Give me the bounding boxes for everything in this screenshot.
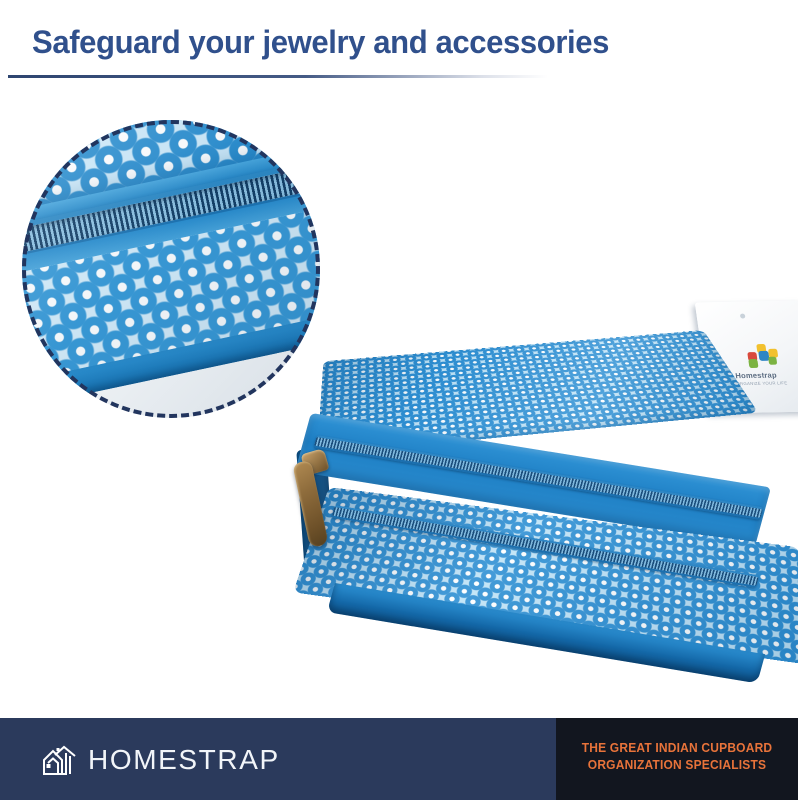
footer-tagline-line-1: THE GREAT INDIAN CUPBOARD — [561, 740, 793, 757]
hang-tag-brand-text: Homestrap — [735, 371, 778, 381]
callout-gloss-overlay — [22, 120, 320, 418]
title-underline-rule — [8, 75, 548, 78]
house-roof-logo-icon — [42, 743, 78, 777]
product-image-organizer-pouch: Homestrap ORGANIZE YOUR LIFE — [295, 265, 798, 685]
footer-brand-name: HOMESTRAP — [88, 744, 280, 776]
footer-tagline-line-2: ORGANIZATION SPECIALISTS — [561, 757, 793, 774]
hang-tag-logo-icon — [745, 343, 783, 369]
footer-brand-bar: HOMESTRAP THE GREAT INDIAN CUPBOARD ORGA… — [0, 718, 798, 800]
hang-tag-subtitle-text: ORGANIZE YOUR LIFE — [736, 380, 788, 386]
product-photo-stage: Homestrap ORGANIZE YOUR LIFE — [0, 95, 798, 718]
header-banner: Safeguard your jewelry and accessories — [0, 0, 798, 95]
footer-left-panel: HOMESTRAP — [0, 718, 556, 800]
footer-tagline: THE GREAT INDIAN CUPBOARD ORGANIZATION S… — [561, 740, 793, 774]
tag-punch-hole — [740, 314, 746, 319]
zipper-detail-callout — [22, 120, 320, 418]
callout-image-clip — [22, 120, 320, 418]
footer-right-panel: THE GREAT INDIAN CUPBOARD ORGANIZATION S… — [556, 718, 798, 800]
page-title: Safeguard your jewelry and accessories — [32, 24, 609, 61]
